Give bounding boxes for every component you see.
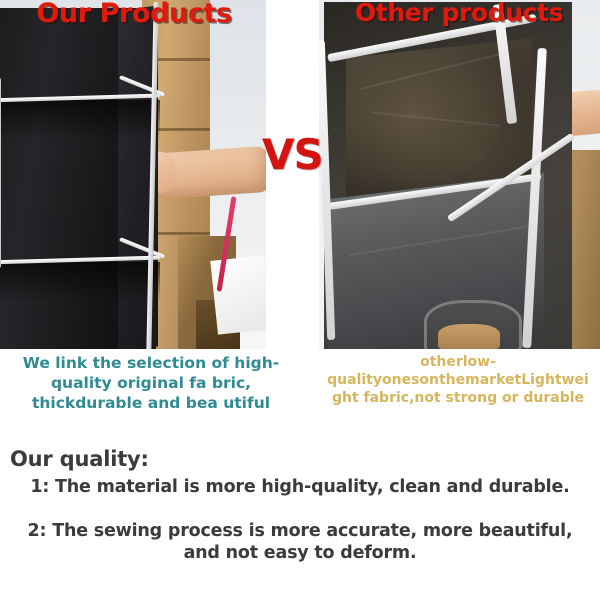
comparison-infographic: Our Products VS bbox=[0, 0, 600, 600]
shelf-shadow bbox=[0, 100, 160, 140]
right-panel-caption: otherlow-qualityonesonthemarketLightweig… bbox=[326, 353, 590, 408]
our-products-photo bbox=[0, 0, 268, 349]
quality-item-1: 1: The material is more high-quality, cl… bbox=[12, 477, 588, 499]
white-paper-sheet bbox=[210, 255, 268, 334]
right-product-panel: Other products bbox=[318, 0, 600, 349]
shelf-shadow bbox=[0, 262, 160, 302]
left-product-panel: Our Products bbox=[0, 0, 268, 349]
bag-pocket-contents bbox=[438, 324, 500, 349]
quality-section: Our quality: 1: The material is more hig… bbox=[0, 447, 600, 565]
quality-item-2: 2: The sewing process is more accurate, … bbox=[12, 521, 588, 565]
left-panel-caption: We link the selection of high-quality or… bbox=[8, 353, 294, 413]
quality-heading: Our quality: bbox=[10, 447, 600, 471]
comparison-strip: Our Products VS bbox=[0, 0, 600, 349]
other-products-photo bbox=[318, 0, 600, 349]
white-piping-trim-vertical bbox=[0, 78, 1, 268]
caption-row: We link the selection of high-quality or… bbox=[0, 349, 600, 445]
vs-badge: VS bbox=[262, 130, 322, 179]
